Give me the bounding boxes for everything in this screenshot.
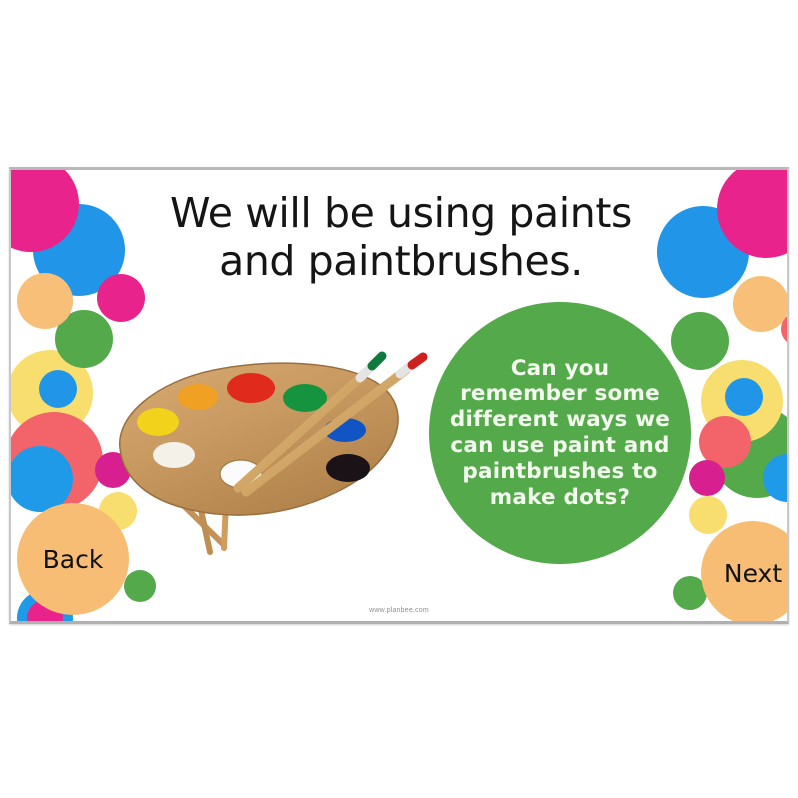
dot-blue-in-yellow (39, 370, 77, 408)
screenshot-canvas: We will be using paints and paintbrushes… (0, 0, 798, 798)
watermark-url: www.planbee.com (11, 607, 787, 614)
question-bubble: Can you remember some different ways we … (429, 302, 691, 564)
dot-yellow-right-small (689, 496, 727, 534)
back-button[interactable]: Back (17, 503, 129, 615)
red-paint-blob (227, 373, 275, 403)
dot-orange-left-upper (17, 273, 73, 329)
next-button-label: Next (724, 559, 782, 588)
dot-magenta-right (689, 460, 725, 496)
next-button[interactable]: Next (701, 521, 787, 621)
dot-orange-right (733, 276, 787, 332)
back-button-label: Back (43, 545, 104, 574)
presentation-slide: We will be using paints and paintbrushes… (9, 167, 789, 624)
slide-title: We will be using paints and paintbrushes… (131, 190, 671, 285)
slide-content: We will be using paints and paintbrushes… (11, 170, 787, 621)
white-paint-blob (153, 442, 195, 468)
question-text: Can you remember some different ways we … (445, 356, 675, 511)
black-paint-blob (326, 454, 370, 482)
dot-blue-in-yellow-r (725, 378, 763, 416)
dot-green-right (671, 312, 729, 370)
paint-palette-illustration (106, 340, 436, 585)
orange-paint-blob (178, 384, 218, 410)
yellow-paint-blob (137, 408, 179, 436)
